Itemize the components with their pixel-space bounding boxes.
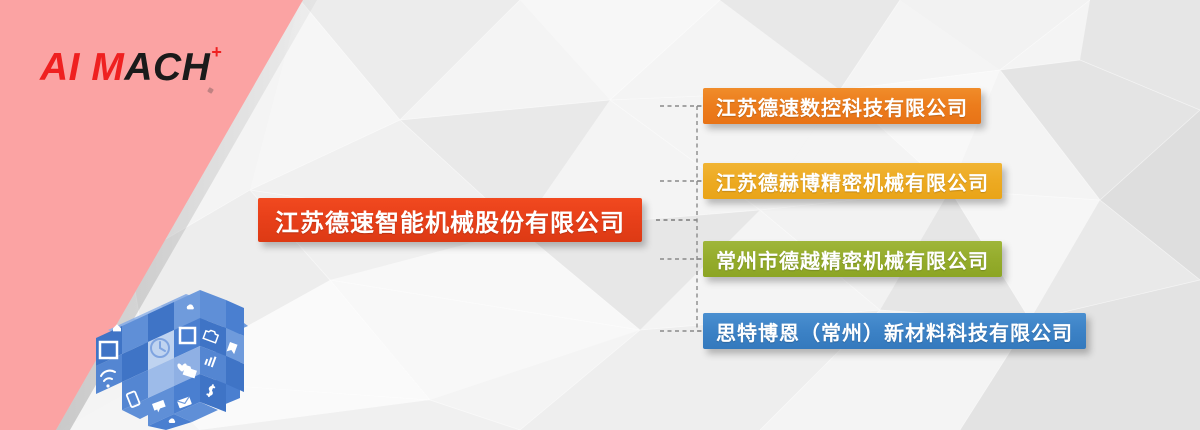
company-structure-banner: AI MACH+ [0,0,1200,430]
blue-icon-cube-cluster [88,282,258,430]
org-node-label: 江苏德速智能机械股份有限公司 [275,203,625,238]
org-node-label: 江苏德速数控科技有限公司 [716,92,968,121]
org-node-subsidiary-4[interactable]: 思特博恩（常州）新材料科技有限公司 [703,313,1086,349]
logo-plus-icon: + [211,42,222,62]
org-node-label: 思特博恩（常州）新材料科技有限公司 [716,317,1073,346]
org-node-label: 江苏德赫博精密机械有限公司 [716,167,989,196]
brand-logo: AI MACH+ [40,48,221,87]
org-node-label: 常州市德越精密机械有限公司 [716,245,989,274]
org-node-subsidiary-1[interactable]: 江苏德速数控科技有限公司 [703,88,981,124]
org-node-parent-company[interactable]: 江苏德速智能机械股份有限公司 [258,198,642,242]
org-node-subsidiary-3[interactable]: 常州市德越精密机械有限公司 [703,241,1002,277]
logo-text-black: ACH [124,46,210,89]
logo-text-red: AI M [40,46,124,89]
org-node-subsidiary-2[interactable]: 江苏德赫博精密机械有限公司 [703,163,1002,199]
